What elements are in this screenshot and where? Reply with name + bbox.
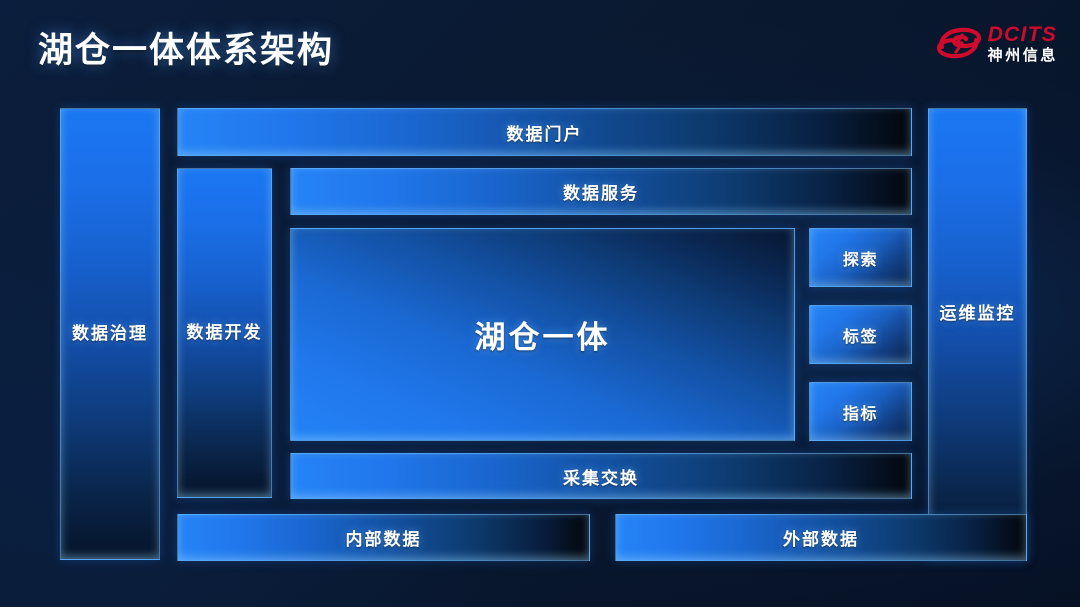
slide-canvas: 湖仓一体体系架构 DCITS 神州信息 数据治理 运维监控 数据门户 数据开发 …: [0, 0, 1080, 607]
logo-text-block: DCITS 神州信息: [988, 24, 1058, 63]
logo-brand-chinese: 神州信息: [988, 48, 1058, 63]
page-title: 湖仓一体体系架构: [38, 22, 334, 73]
panel-ops-monitoring-label: 运维监控: [940, 304, 1016, 324]
logo-brand-latin: DCITS: [988, 24, 1058, 45]
panel-data-service[interactable]: 数据服务: [290, 168, 912, 215]
panel-chip-metrics[interactable]: 指标: [809, 382, 912, 441]
swirl-ribbon-logo-mark: [937, 26, 981, 60]
panel-data-development[interactable]: 数据开发: [177, 168, 272, 498]
panel-chip-explore[interactable]: 探索: [809, 228, 912, 287]
panel-internal-data-label: 内部数据: [346, 525, 422, 550]
slide-header: 湖仓一体体系架构 DCITS 神州信息: [0, 0, 1080, 92]
panel-chip-metrics-label: 指标: [843, 400, 878, 424]
panel-data-governance-label: 数据治理: [72, 324, 148, 344]
panel-lakehouse-core-label: 湖仓一体: [475, 312, 611, 357]
panel-lakehouse-core[interactable]: 湖仓一体: [290, 228, 795, 441]
panel-ops-monitoring[interactable]: 运维监控: [928, 108, 1027, 560]
panel-collect-exchange[interactable]: 采集交换: [290, 453, 912, 499]
panel-data-development-label: 数据开发: [187, 323, 263, 343]
brand-logo: DCITS 神州信息: [937, 20, 1058, 66]
panel-chip-tags[interactable]: 标签: [809, 305, 912, 364]
panel-external-data-label: 外部数据: [783, 525, 859, 550]
panel-data-service-label: 数据服务: [563, 179, 639, 204]
panel-data-portal[interactable]: 数据门户: [177, 108, 912, 156]
panel-collect-exchange-label: 采集交换: [563, 464, 639, 489]
panel-chip-explore-label: 探索: [843, 246, 878, 270]
panel-data-portal-label: 数据门户: [507, 120, 583, 145]
panel-internal-data[interactable]: 内部数据: [177, 514, 590, 561]
panel-external-data[interactable]: 外部数据: [615, 514, 1027, 561]
panel-data-governance[interactable]: 数据治理: [60, 108, 160, 560]
panel-chip-tags-label: 标签: [843, 323, 878, 347]
